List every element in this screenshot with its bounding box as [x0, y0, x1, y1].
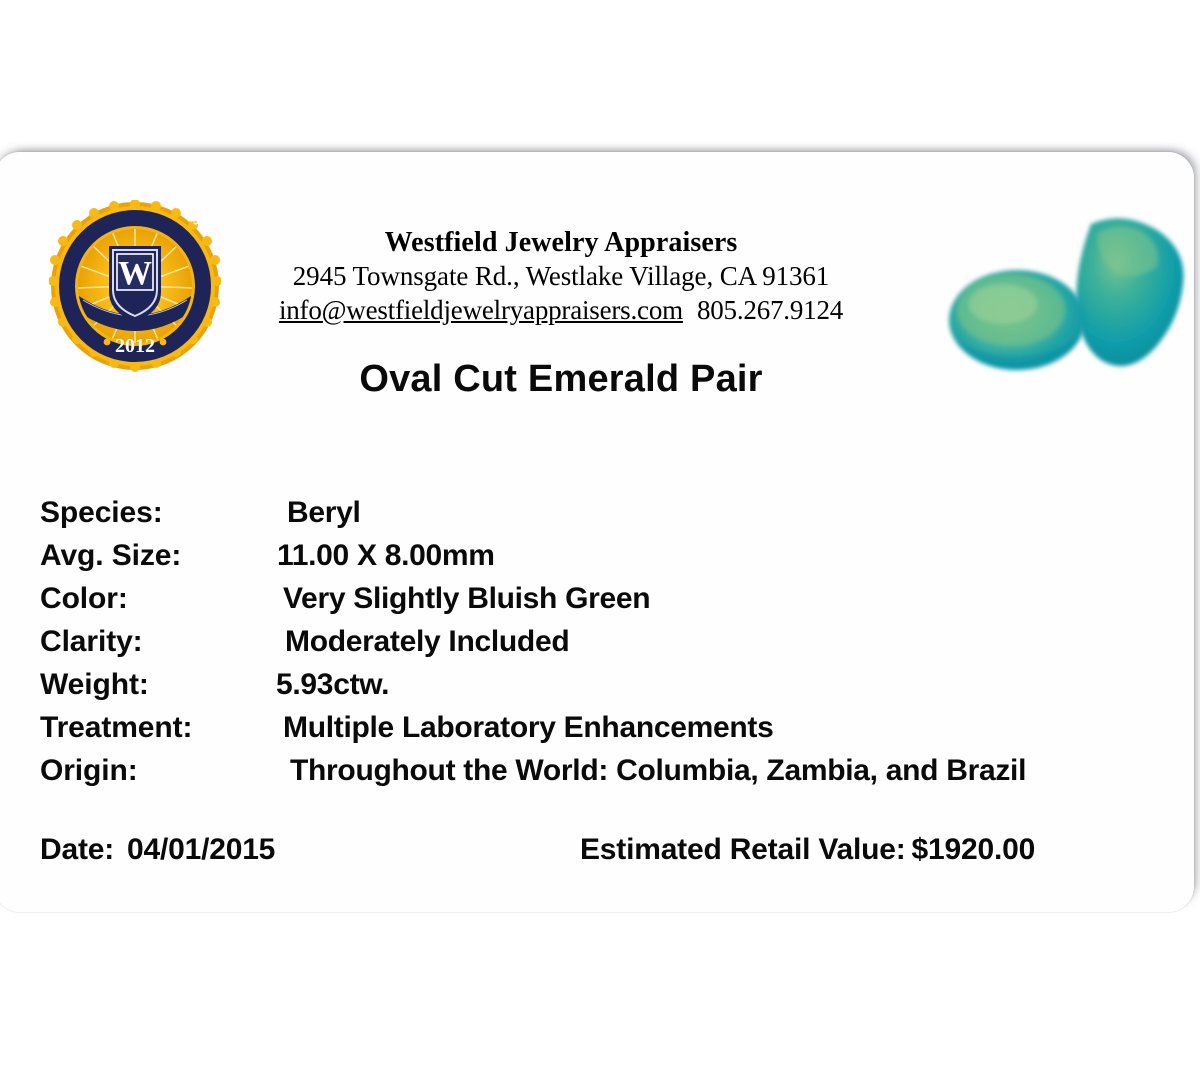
retail-value-amount: $1920.00 [912, 833, 1036, 866]
spec-label: Weight: [40, 668, 149, 702]
spec-row-treatment: Treatment: Multiple Laboratory Enhanceme… [40, 711, 1170, 754]
svg-text:W: W [118, 255, 152, 292]
spec-value: Very Slightly Bluish Green [283, 582, 650, 616]
spec-label: Treatment: [40, 711, 192, 745]
estimated-retail-value: Estimated Retail Value:$1920.00 [580, 833, 1035, 867]
letterhead: Westfield Jewelry Appraisers 2945 Townsg… [232, 226, 890, 327]
gemstone-photo [895, 200, 1195, 400]
company-phone: 805.267.9124 [697, 295, 843, 325]
spec-value: 5.93ctw. [276, 668, 389, 702]
spec-value: Multiple Laboratory Enhancements [283, 711, 773, 745]
spec-row-origin: Origin: Throughout the World: Columbia, … [40, 754, 1170, 797]
page-title: Oval Cut Emerald Pair [232, 358, 890, 401]
appraiser-seal-icon: WESTFIELD·JEWELRY·APPRAISERS W [49, 200, 221, 372]
spec-row-avg-size: Avg. Size: 11.00 X 8.00mm [40, 539, 1170, 582]
spec-label: Avg. Size: [40, 539, 181, 573]
spec-row-color: Color: Very Slightly Bluish Green [40, 582, 1170, 625]
spec-label: Clarity: [40, 625, 143, 659]
spec-label: Color: [40, 582, 128, 616]
spec-row-clarity: Clarity: Moderately Included [40, 625, 1170, 668]
spec-label: Origin: [40, 754, 138, 788]
spec-row-weight: Weight: 5.93ctw. [40, 668, 1170, 711]
spec-row-species: Species: Beryl [40, 496, 1170, 539]
retail-value-label: Estimated Retail Value: [580, 833, 906, 866]
spec-value: Beryl [287, 496, 361, 530]
spec-value: Throughout the World: Columbia, Zambia, … [290, 754, 1026, 788]
company-address: 2945 Townsgate Rd., Westlake Village, CA… [232, 259, 890, 293]
svg-text:2012: 2012 [115, 335, 155, 357]
certificate-footer: Date:04/01/2015 Estimated Retail Value:$… [40, 833, 1170, 877]
spec-label: Species: [40, 496, 163, 530]
company-name: Westfield Jewelry Appraisers [232, 226, 890, 259]
specification-list: Species: Beryl Avg. Size: 11.00 X 8.00mm… [40, 496, 1170, 797]
spec-value: Moderately Included [285, 625, 569, 659]
company-contact: info@westfieldjewelryappraisers.com805.2… [232, 293, 890, 327]
date-label: Date: [40, 833, 114, 866]
spec-value: 11.00 X 8.00mm [277, 539, 495, 573]
appraisal-date: Date:04/01/2015 [40, 833, 275, 867]
date-value: 04/01/2015 [127, 833, 275, 866]
company-email-link[interactable]: info@westfieldjewelryappraisers.com [279, 295, 683, 325]
